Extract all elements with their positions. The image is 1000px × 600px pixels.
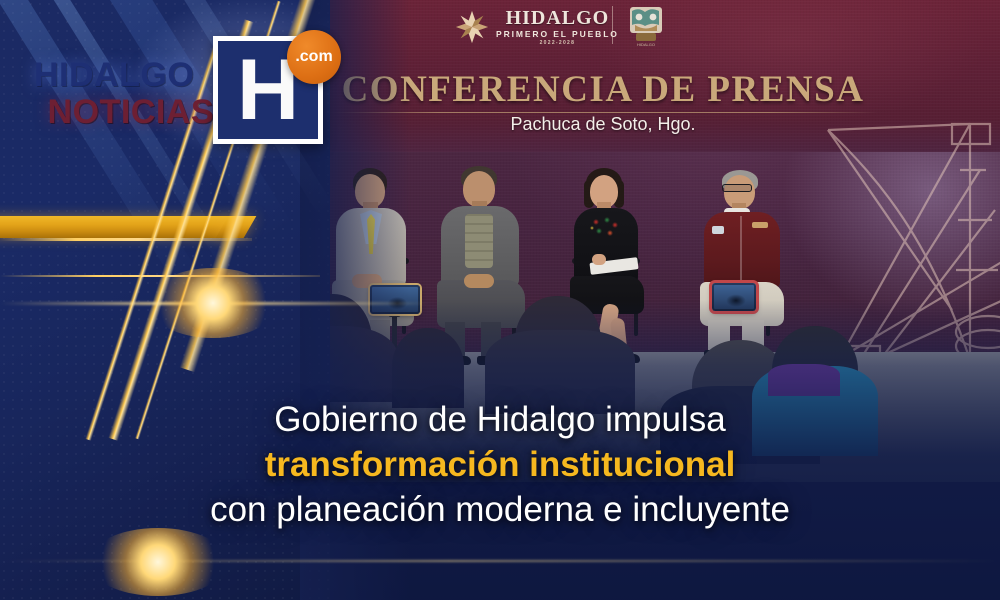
gov-logo-period: 2022-2028 — [540, 41, 576, 46]
gold-thin-line-upper — [0, 238, 252, 241]
logo-divider — [612, 6, 613, 44]
government-logo-text: HIDALGO PRIMERO EL PUEBLO 2022-2028 — [496, 8, 619, 46]
panelist-4-emblem — [752, 222, 768, 228]
state-seal-icon: HIDALGO — [626, 5, 666, 49]
glasses-icon — [722, 184, 752, 192]
light-flare-bottom — [88, 528, 228, 596]
headline-line-1: Gobierno de Hidalgo impulsa — [0, 398, 1000, 443]
panelist-4-badge — [712, 226, 724, 234]
headline: Gobierno de Hidalgo impulsa transformaci… — [0, 398, 1000, 532]
eight-point-star-icon — [455, 10, 489, 44]
panelist-4-jacket — [704, 212, 780, 288]
news-thumbnail-card: HIDALGO PRIMERO EL PUEBLO 2022-2028 HIDA… — [0, 0, 1000, 600]
brand-dotcom-badge: .com — [287, 30, 341, 84]
panelist-2-vest — [465, 214, 493, 268]
brand-line-hidalgo: HIDALGO — [34, 58, 214, 92]
panelist-3-hand — [592, 254, 606, 265]
headline-line-3: con planeación moderna e incluyente — [0, 488, 1000, 533]
event-title-rule — [330, 112, 878, 113]
panelist-4-zipper — [740, 216, 742, 284]
panelist-3-embroidery — [590, 216, 620, 240]
panelist-2-hands — [464, 274, 494, 288]
light-flare-mid — [148, 268, 278, 338]
brand-line-noticias: NOTICIAS — [34, 95, 214, 129]
brand-wordmark[interactable]: HIDALGO NOTICIAS — [34, 58, 214, 129]
gov-logo-title: HIDALGO — [506, 8, 610, 28]
svg-text:HIDALGO: HIDALGO — [637, 42, 655, 47]
gov-logo-subtitle: PRIMERO EL PUEBLO — [496, 30, 619, 39]
gold-band-upper — [0, 216, 230, 238]
headline-line-2: transformación institucional — [0, 443, 1000, 488]
